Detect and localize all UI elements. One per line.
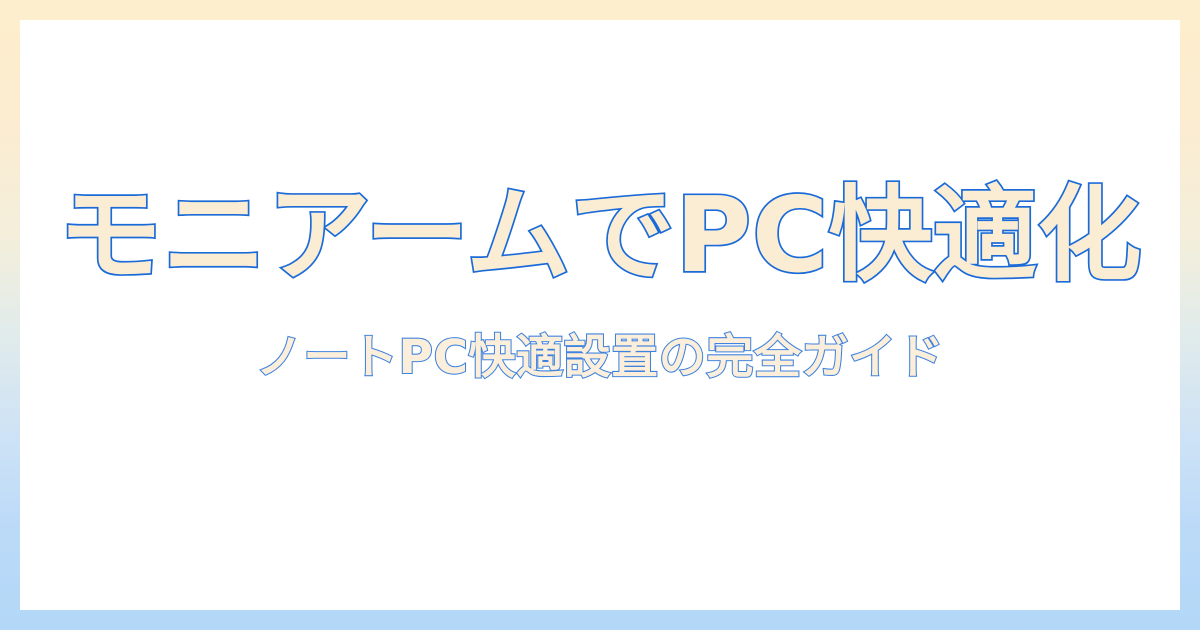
page-title: モニアームでPC快適化 bbox=[58, 180, 1142, 290]
white-card: モニアームでPC快適化 ノートPC快適設置の完全ガイド bbox=[20, 20, 1180, 610]
page-subtitle: ノートPC快適設置の完全ガイド bbox=[256, 332, 944, 384]
ogp-card-canvas: モニアームでPC快適化 ノートPC快適設置の完全ガイド bbox=[0, 0, 1200, 630]
card-content: モニアームでPC快適化 ノートPC快適設置の完全ガイド bbox=[20, 20, 1180, 384]
